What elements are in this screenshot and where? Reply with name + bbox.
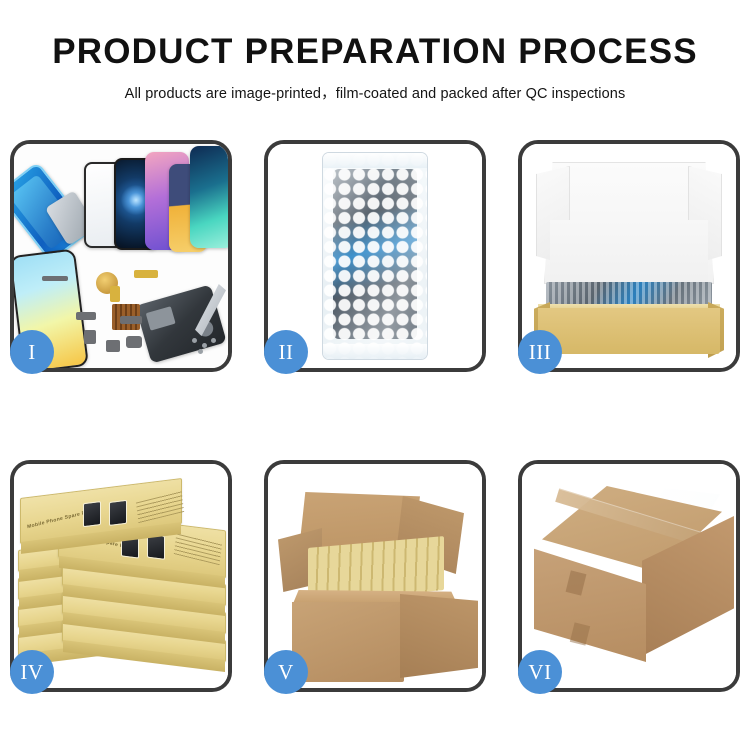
infographic-page: PRODUCT PREPARATION PROCESS All products…: [0, 0, 750, 750]
retail-box-window-a: [83, 501, 101, 527]
carton-front-wall: [292, 602, 404, 682]
page-subtitle: All products are image-printed，film-coat…: [0, 82, 750, 103]
small-part-d: [106, 340, 120, 352]
screws-group: [192, 338, 218, 354]
box-front-wall: [538, 308, 720, 354]
process-step-card-5: V: [264, 460, 486, 692]
step-badge-4: IV: [10, 650, 54, 694]
teal-gradient-screen: [190, 146, 228, 248]
retail-box-top-left: Mobile Phone Spare Parts: [20, 478, 182, 544]
small-part-c: [84, 330, 96, 344]
process-step-card-6: VI: [518, 460, 740, 692]
top-seal: [323, 153, 427, 168]
bottom-seal: [323, 344, 427, 359]
open-mailer-box: [536, 162, 722, 338]
header: PRODUCT PREPARATION PROCESS All products…: [0, 0, 750, 103]
small-part-e: [126, 336, 142, 348]
carton-side-wall: [400, 594, 478, 678]
step-badge-6: VI: [518, 650, 562, 694]
step-badge-1: I: [10, 330, 54, 374]
open-shipping-carton: [280, 490, 470, 672]
retail-box-window-b: [109, 500, 127, 526]
bubble-wrapped-package: [323, 153, 427, 359]
retail-box-spec-lines-2: [174, 533, 222, 566]
small-part-b: [76, 312, 96, 320]
box-stack: Mobile Phone Spare Parts Mobile Phone Sp…: [18, 476, 222, 680]
flex-cable-b: [110, 286, 120, 302]
step-badge-5: V: [264, 650, 308, 694]
process-step-grid: I II: [10, 140, 740, 692]
step-badge-3: III: [518, 330, 562, 374]
small-part-f: [120, 316, 142, 324]
process-step-card-2: II: [264, 140, 486, 372]
page-title: PRODUCT PREPARATION PROCESS: [0, 34, 750, 71]
sealed-shipping-carton: [532, 486, 726, 670]
small-part-a: [42, 276, 68, 281]
process-step-card-3: III: [518, 140, 740, 372]
retail-box-spec-lines-1: [136, 490, 184, 523]
flex-cable-a: [134, 270, 158, 278]
step-badge-2: II: [264, 330, 308, 374]
film-sheen: [323, 153, 427, 359]
process-step-card-1: I: [10, 140, 232, 372]
process-step-card-4: Mobile Phone Spare Parts Mobile Phone Sp…: [10, 460, 232, 692]
